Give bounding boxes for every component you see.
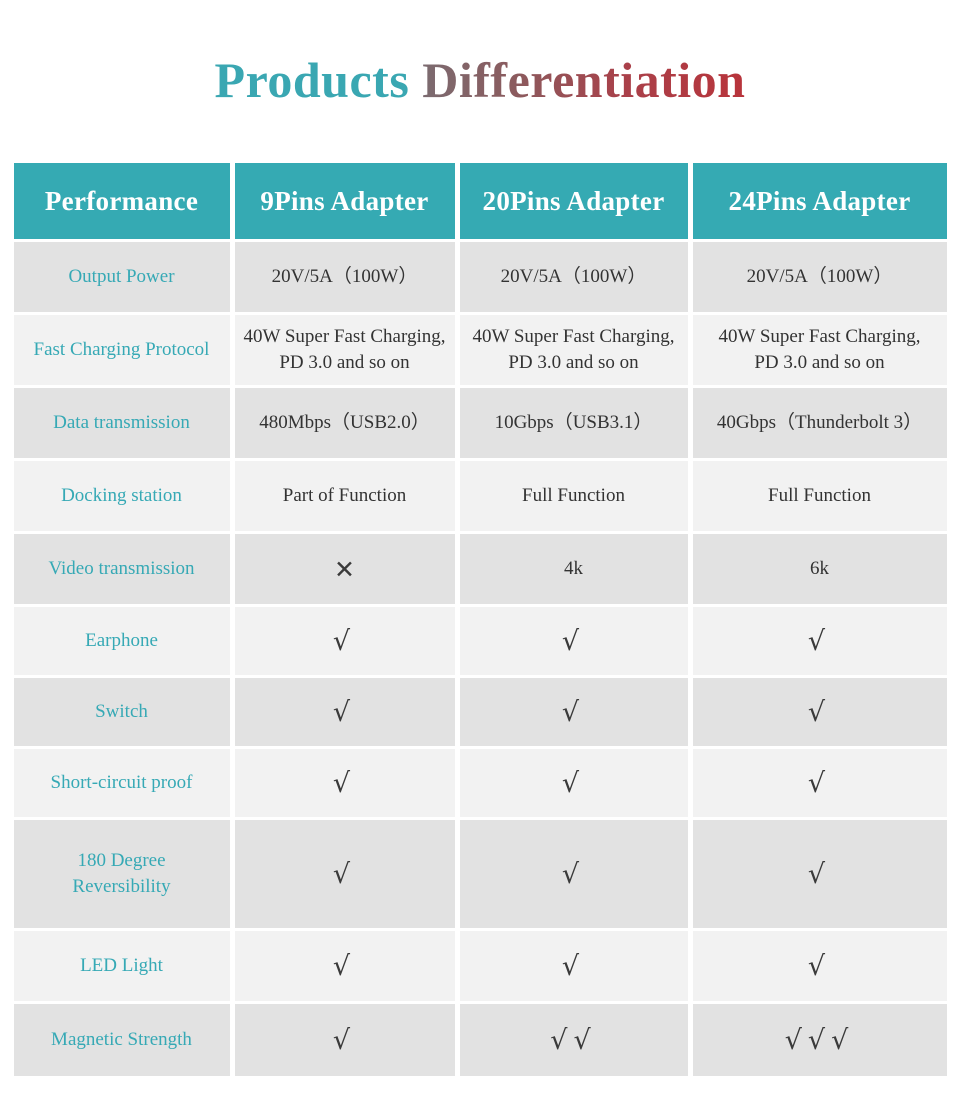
header-20pins-adapter: 20Pins Adapter xyxy=(460,163,688,239)
title-part-products: Products xyxy=(215,52,423,108)
table-row: Docking station Part of Function Full Fu… xyxy=(14,461,947,531)
header-24pins-adapter: 24Pins Adapter xyxy=(693,163,947,239)
row-label-docking-station: Docking station xyxy=(14,461,230,531)
header-9pins-adapter: 9Pins Adapter xyxy=(235,163,455,239)
row-label-led-light: LED Light xyxy=(14,931,230,1001)
cell-short-circuit-9pins: √ xyxy=(235,749,455,817)
cell-led-light-24pins: √ xyxy=(693,931,947,1001)
row-label-earphone: Earphone xyxy=(14,607,230,675)
row-label-output-power: Output Power xyxy=(14,242,230,312)
table-header-row: Performance 9Pins Adapter 20Pins Adapter… xyxy=(14,163,947,239)
cell-magnetic-strength-24pins: √√√ xyxy=(693,1004,947,1076)
cell-data-transmission-24pins: 40Gbps（Thunderbolt 3） xyxy=(693,388,947,458)
cell-earphone-24pins: √ xyxy=(693,607,947,675)
row-label-magnetic-strength: Magnetic Strength xyxy=(14,1004,230,1076)
table-row: Output Power 20V/5A（100W） 20V/5A（100W） 2… xyxy=(14,242,947,312)
cell-video-transmission-20pins: 4k xyxy=(460,534,688,604)
row-label-switch: Switch xyxy=(14,678,230,746)
table-row: Short-circuit proof √ √ √ xyxy=(14,749,947,817)
cell-output-power-24pins: 20V/5A（100W） xyxy=(693,242,947,312)
cell-video-transmission-24pins: 6k xyxy=(693,534,947,604)
cell-docking-station-9pins: Part of Function xyxy=(235,461,455,531)
table-row: 180 Degree Reversibility √ √ √ xyxy=(14,820,947,928)
cell-reversibility-9pins: √ xyxy=(235,820,455,928)
table-row: Video transmission ✕ 4k 6k xyxy=(14,534,947,604)
table-row: LED Light √ √ √ xyxy=(14,931,947,1001)
cell-reversibility-24pins: √ xyxy=(693,820,947,928)
header-performance: Performance xyxy=(14,163,230,239)
table-row: Data transmission 480Mbps（USB2.0） 10Gbps… xyxy=(14,388,947,458)
row-label-video-transmission: Video transmission xyxy=(14,534,230,604)
comparison-table: Performance 9Pins Adapter 20Pins Adapter… xyxy=(9,160,952,1079)
cell-switch-9pins: √ xyxy=(235,678,455,746)
cell-fast-charging-9pins: 40W Super Fast Charging, PD 3.0 and so o… xyxy=(235,315,455,385)
cell-magnetic-strength-20pins: √√ xyxy=(460,1004,688,1076)
cell-output-power-9pins: 20V/5A（100W） xyxy=(235,242,455,312)
cell-fast-charging-24pins: 40W Super Fast Charging, PD 3.0 and so o… xyxy=(693,315,947,385)
cell-video-transmission-9pins: ✕ xyxy=(235,534,455,604)
title-part-differentiation: Differentiation xyxy=(422,52,745,108)
cell-data-transmission-9pins: 480Mbps（USB2.0） xyxy=(235,388,455,458)
cell-switch-20pins: √ xyxy=(460,678,688,746)
cell-docking-station-24pins: Full Function xyxy=(693,461,947,531)
page-title: Products Differentiation xyxy=(0,0,960,160)
cell-docking-station-20pins: Full Function xyxy=(460,461,688,531)
row-label-data-transmission: Data transmission xyxy=(14,388,230,458)
cell-led-light-9pins: √ xyxy=(235,931,455,1001)
row-label-180-degree-reversibility: 180 Degree Reversibility xyxy=(14,820,230,928)
cell-short-circuit-24pins: √ xyxy=(693,749,947,817)
table-row: Fast Charging Protocol 40W Super Fast Ch… xyxy=(14,315,947,385)
cell-switch-24pins: √ xyxy=(693,678,947,746)
cell-earphone-20pins: √ xyxy=(460,607,688,675)
cell-short-circuit-20pins: √ xyxy=(460,749,688,817)
title-text: Products Differentiation xyxy=(215,55,746,105)
row-label-short-circuit-proof: Short-circuit proof xyxy=(14,749,230,817)
row-label-fast-charging-protocol: Fast Charging Protocol xyxy=(14,315,230,385)
table-row: Magnetic Strength √ √√ √√√ xyxy=(14,1004,947,1076)
cell-earphone-9pins: √ xyxy=(235,607,455,675)
cell-led-light-20pins: √ xyxy=(460,931,688,1001)
table-row: Switch √ √ √ xyxy=(14,678,947,746)
cell-magnetic-strength-9pins: √ xyxy=(235,1004,455,1076)
cell-reversibility-20pins: √ xyxy=(460,820,688,928)
cell-output-power-20pins: 20V/5A（100W） xyxy=(460,242,688,312)
table-row: Earphone √ √ √ xyxy=(14,607,947,675)
cell-fast-charging-20pins: 40W Super Fast Charging, PD 3.0 and so o… xyxy=(460,315,688,385)
cell-data-transmission-20pins: 10Gbps（USB3.1） xyxy=(460,388,688,458)
